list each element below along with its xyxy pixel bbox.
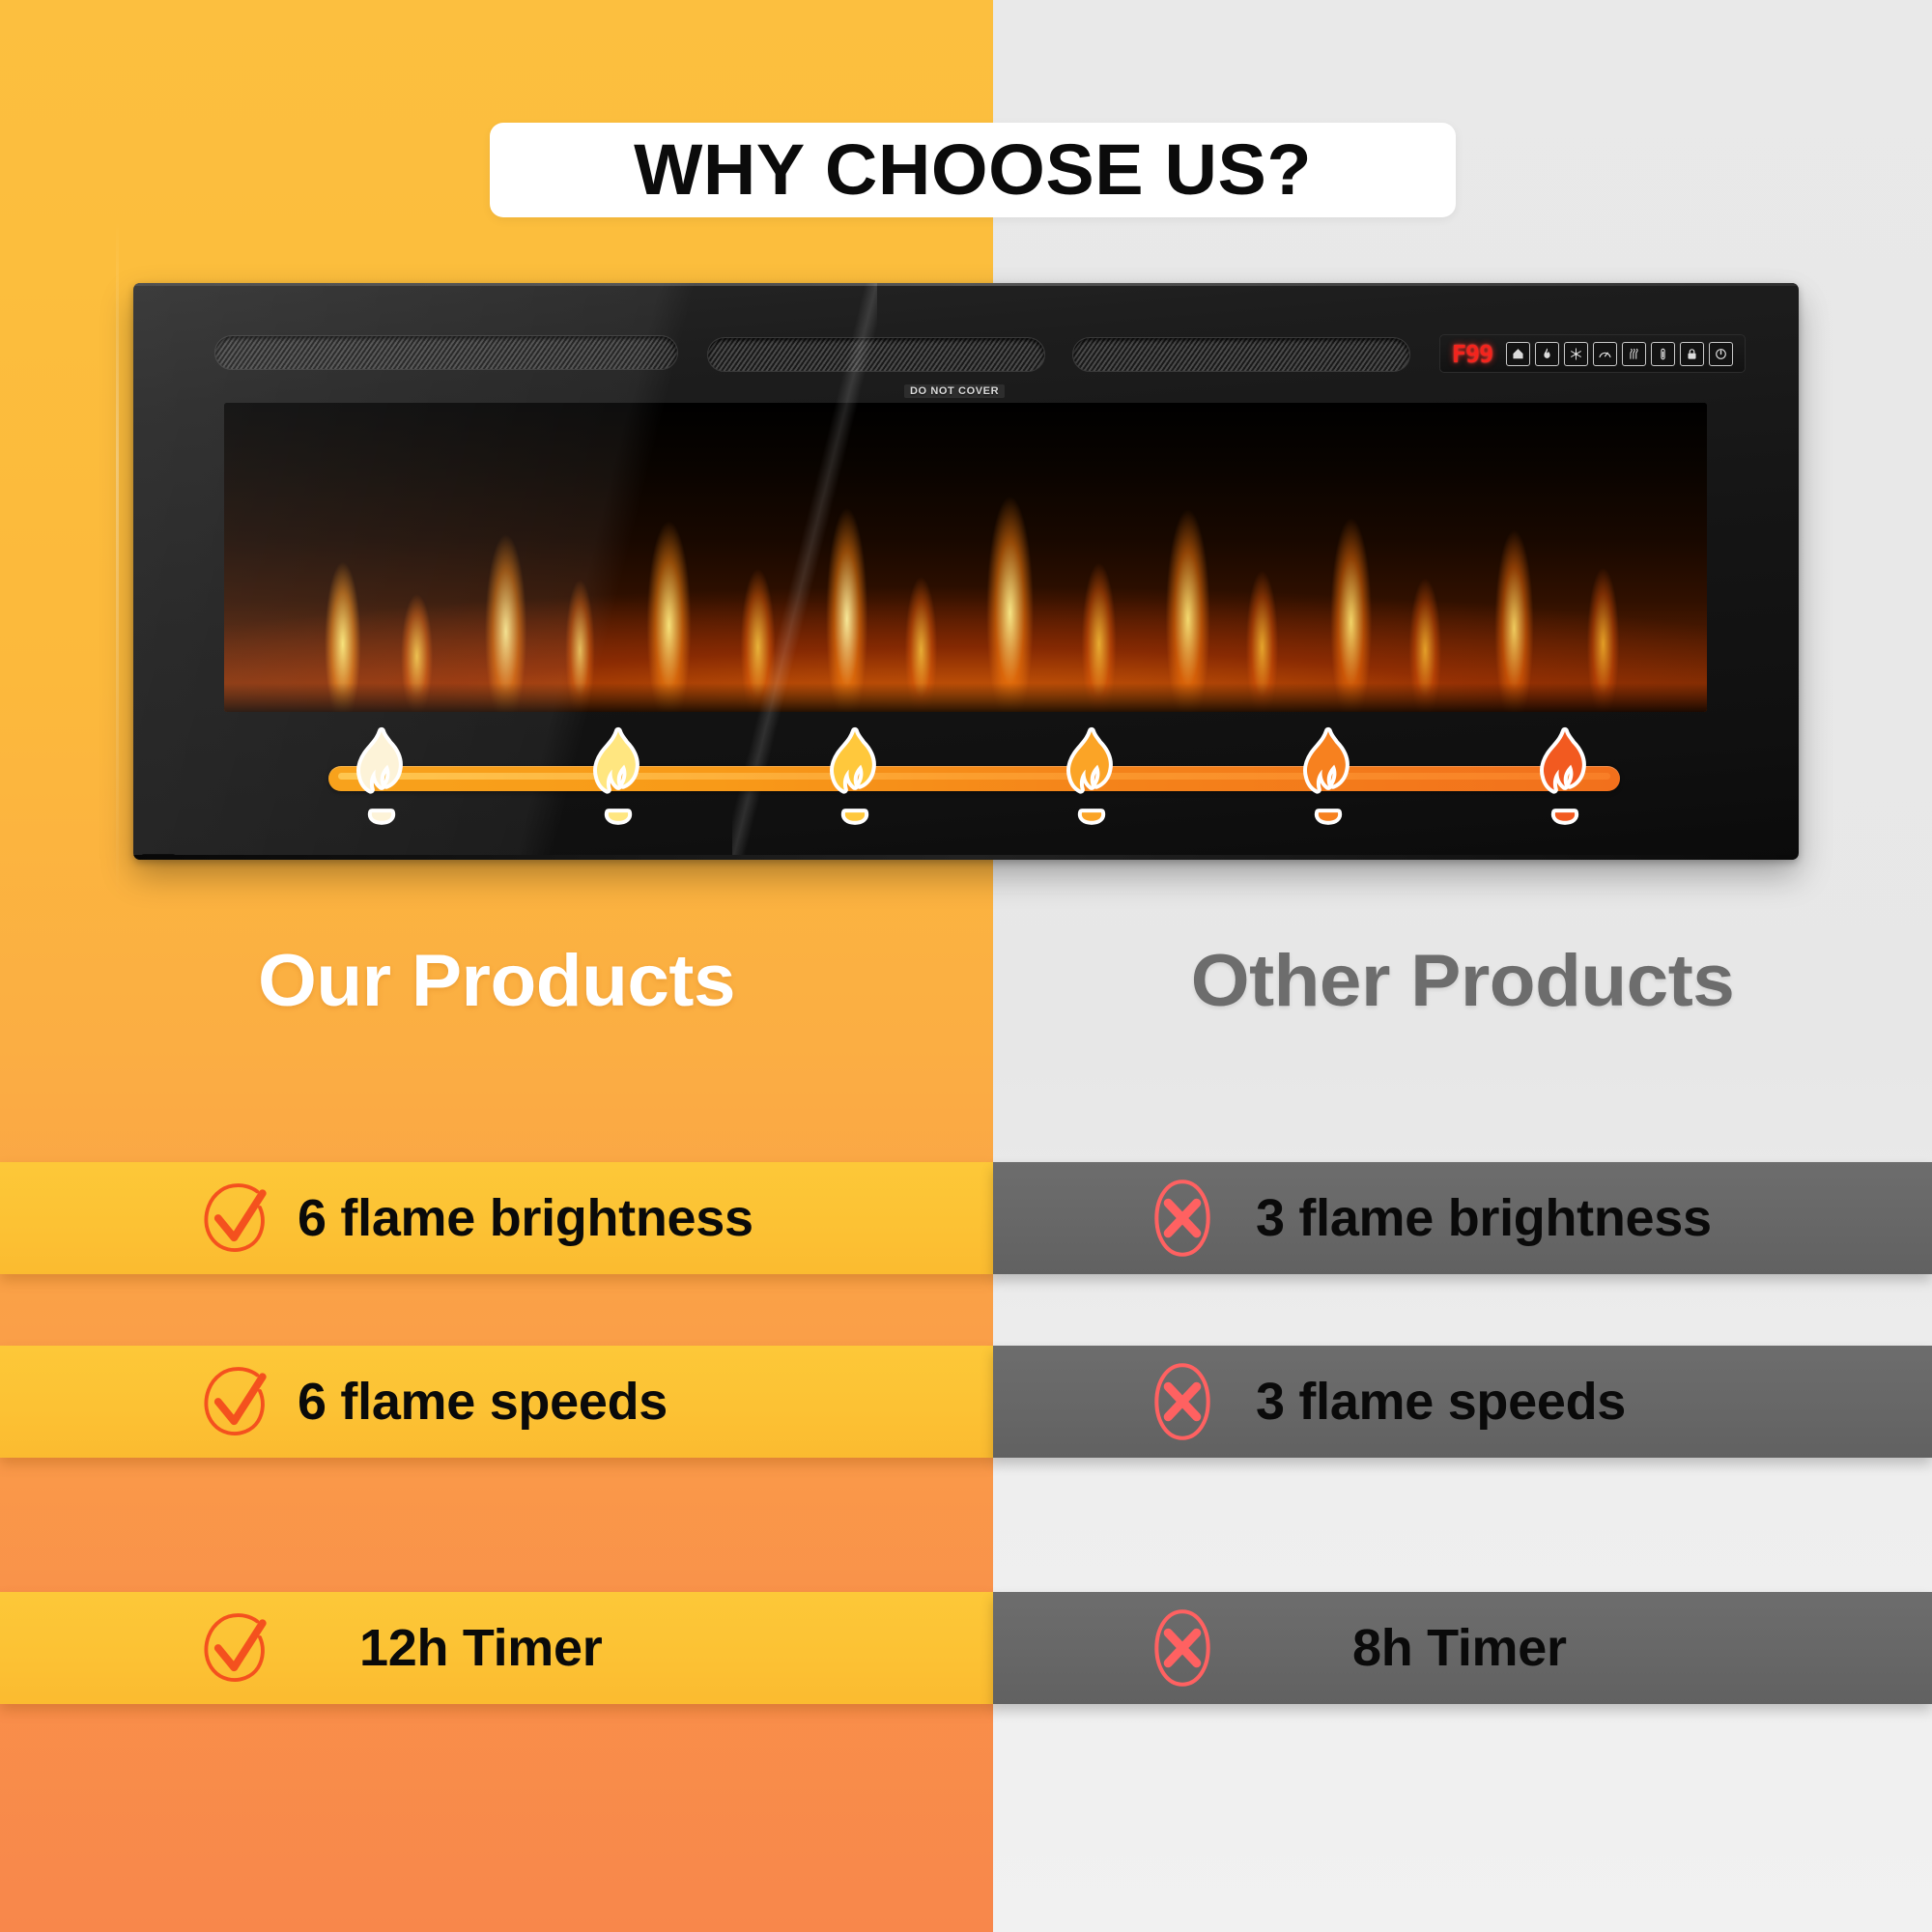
do-not-cover-warning-label: DO NOT COVER bbox=[904, 384, 1005, 398]
panel-light-seam bbox=[116, 222, 119, 898]
comparison-label-others: 8h Timer bbox=[1352, 1622, 1567, 1674]
fireplace-top-edge bbox=[133, 283, 1799, 286]
vent-grille-right bbox=[1072, 337, 1410, 372]
comparison-row: 12h Timer 8h Timer bbox=[0, 1592, 1932, 1704]
control-button-group[interactable] bbox=[1506, 342, 1733, 366]
check-circle-icon bbox=[193, 1604, 282, 1692]
snowflake-icon[interactable] bbox=[1564, 342, 1588, 366]
flame-level-5-icon[interactable] bbox=[1290, 726, 1367, 827]
comparison-label-ours: 6 flame brightness bbox=[298, 1192, 753, 1244]
comparison-label-others: 3 flame brightness bbox=[1256, 1192, 1712, 1244]
column-heading-others: Other Products bbox=[979, 945, 1932, 1018]
comparison-cell-others: 3 flame brightness bbox=[993, 1162, 1932, 1274]
led-display: F99 bbox=[1452, 340, 1492, 368]
comparison-cell-ours: 12h Timer bbox=[0, 1592, 993, 1704]
power-icon[interactable] bbox=[1709, 342, 1733, 366]
flame-level-2-icon[interactable] bbox=[580, 726, 657, 827]
comparison-label-others: 3 flame speeds bbox=[1256, 1376, 1626, 1428]
flame-viewing-window bbox=[224, 403, 1707, 712]
check-circle-icon bbox=[193, 1357, 282, 1446]
comparison-cell-others: 8h Timer bbox=[993, 1592, 1932, 1704]
log-bed-shadow bbox=[224, 683, 1707, 712]
comparison-row: 6 flame speeds 3 flame speeds bbox=[0, 1346, 1932, 1458]
comparison-row: 6 flame brightness 3 flame brightness bbox=[0, 1162, 1932, 1274]
lock-icon[interactable] bbox=[1680, 342, 1704, 366]
page-title-badge: WHY CHOOSE US? bbox=[490, 123, 1456, 217]
flame-brightness-icon[interactable] bbox=[1535, 342, 1559, 366]
cross-circle-icon bbox=[1138, 1174, 1227, 1263]
flame-level-3-icon[interactable] bbox=[816, 726, 894, 827]
comparison-cell-ours: 6 flame brightness bbox=[0, 1162, 993, 1274]
flame-icon[interactable] bbox=[1506, 342, 1530, 366]
page-title: WHY CHOOSE US? bbox=[634, 134, 1312, 206]
comparison-label-ours: 6 flame speeds bbox=[298, 1376, 668, 1428]
control-panel[interactable]: F99 bbox=[1439, 334, 1746, 373]
timer-gauge-icon[interactable] bbox=[1593, 342, 1617, 366]
heat-waves-icon[interactable] bbox=[1622, 342, 1646, 366]
flame-level-6-icon[interactable] bbox=[1526, 726, 1604, 827]
cross-circle-icon bbox=[1138, 1604, 1227, 1692]
check-circle-icon bbox=[193, 1174, 282, 1263]
column-heading-ours: Our Products bbox=[0, 945, 1008, 1018]
flame-level-4-icon[interactable] bbox=[1053, 726, 1130, 827]
thermometer-icon[interactable] bbox=[1651, 342, 1675, 366]
vent-grille-left bbox=[214, 335, 678, 370]
fireplace-bottom-edge bbox=[133, 855, 1799, 860]
comparison-cell-ours: 6 flame speeds bbox=[0, 1346, 993, 1458]
cross-circle-icon bbox=[1138, 1357, 1227, 1446]
vent-grille-center bbox=[707, 337, 1045, 372]
flame-brightness-slider[interactable] bbox=[328, 766, 1620, 791]
flame-level-1-icon[interactable] bbox=[343, 726, 420, 827]
comparison-label-ours: 12h Timer bbox=[359, 1622, 602, 1674]
comparison-cell-others: 3 flame speeds bbox=[993, 1346, 1932, 1458]
